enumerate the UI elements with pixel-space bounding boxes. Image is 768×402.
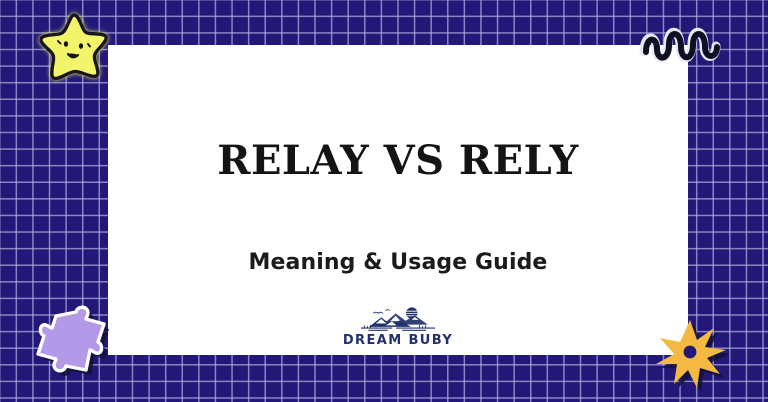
page-title: RELAY VS RELY	[108, 141, 688, 181]
page-subtitle: Meaning & Usage Guide	[108, 252, 688, 274]
mountain-sun-logo-icon	[352, 307, 444, 333]
slide-canvas: RELAY VS RELY Meaning & Usage Guide	[0, 0, 768, 402]
eight-point-burst-icon	[650, 316, 730, 396]
puzzle-piece-icon	[28, 300, 120, 392]
wave-squiggle-icon	[636, 18, 728, 64]
star-face-icon	[28, 8, 120, 100]
brand-name: DREAM BUBY	[343, 334, 453, 347]
brand-logo: DREAM BUBY	[338, 307, 458, 347]
content-card: RELAY VS RELY Meaning & Usage Guide	[108, 45, 688, 355]
card-inner: RELAY VS RELY Meaning & Usage Guide	[108, 45, 688, 355]
